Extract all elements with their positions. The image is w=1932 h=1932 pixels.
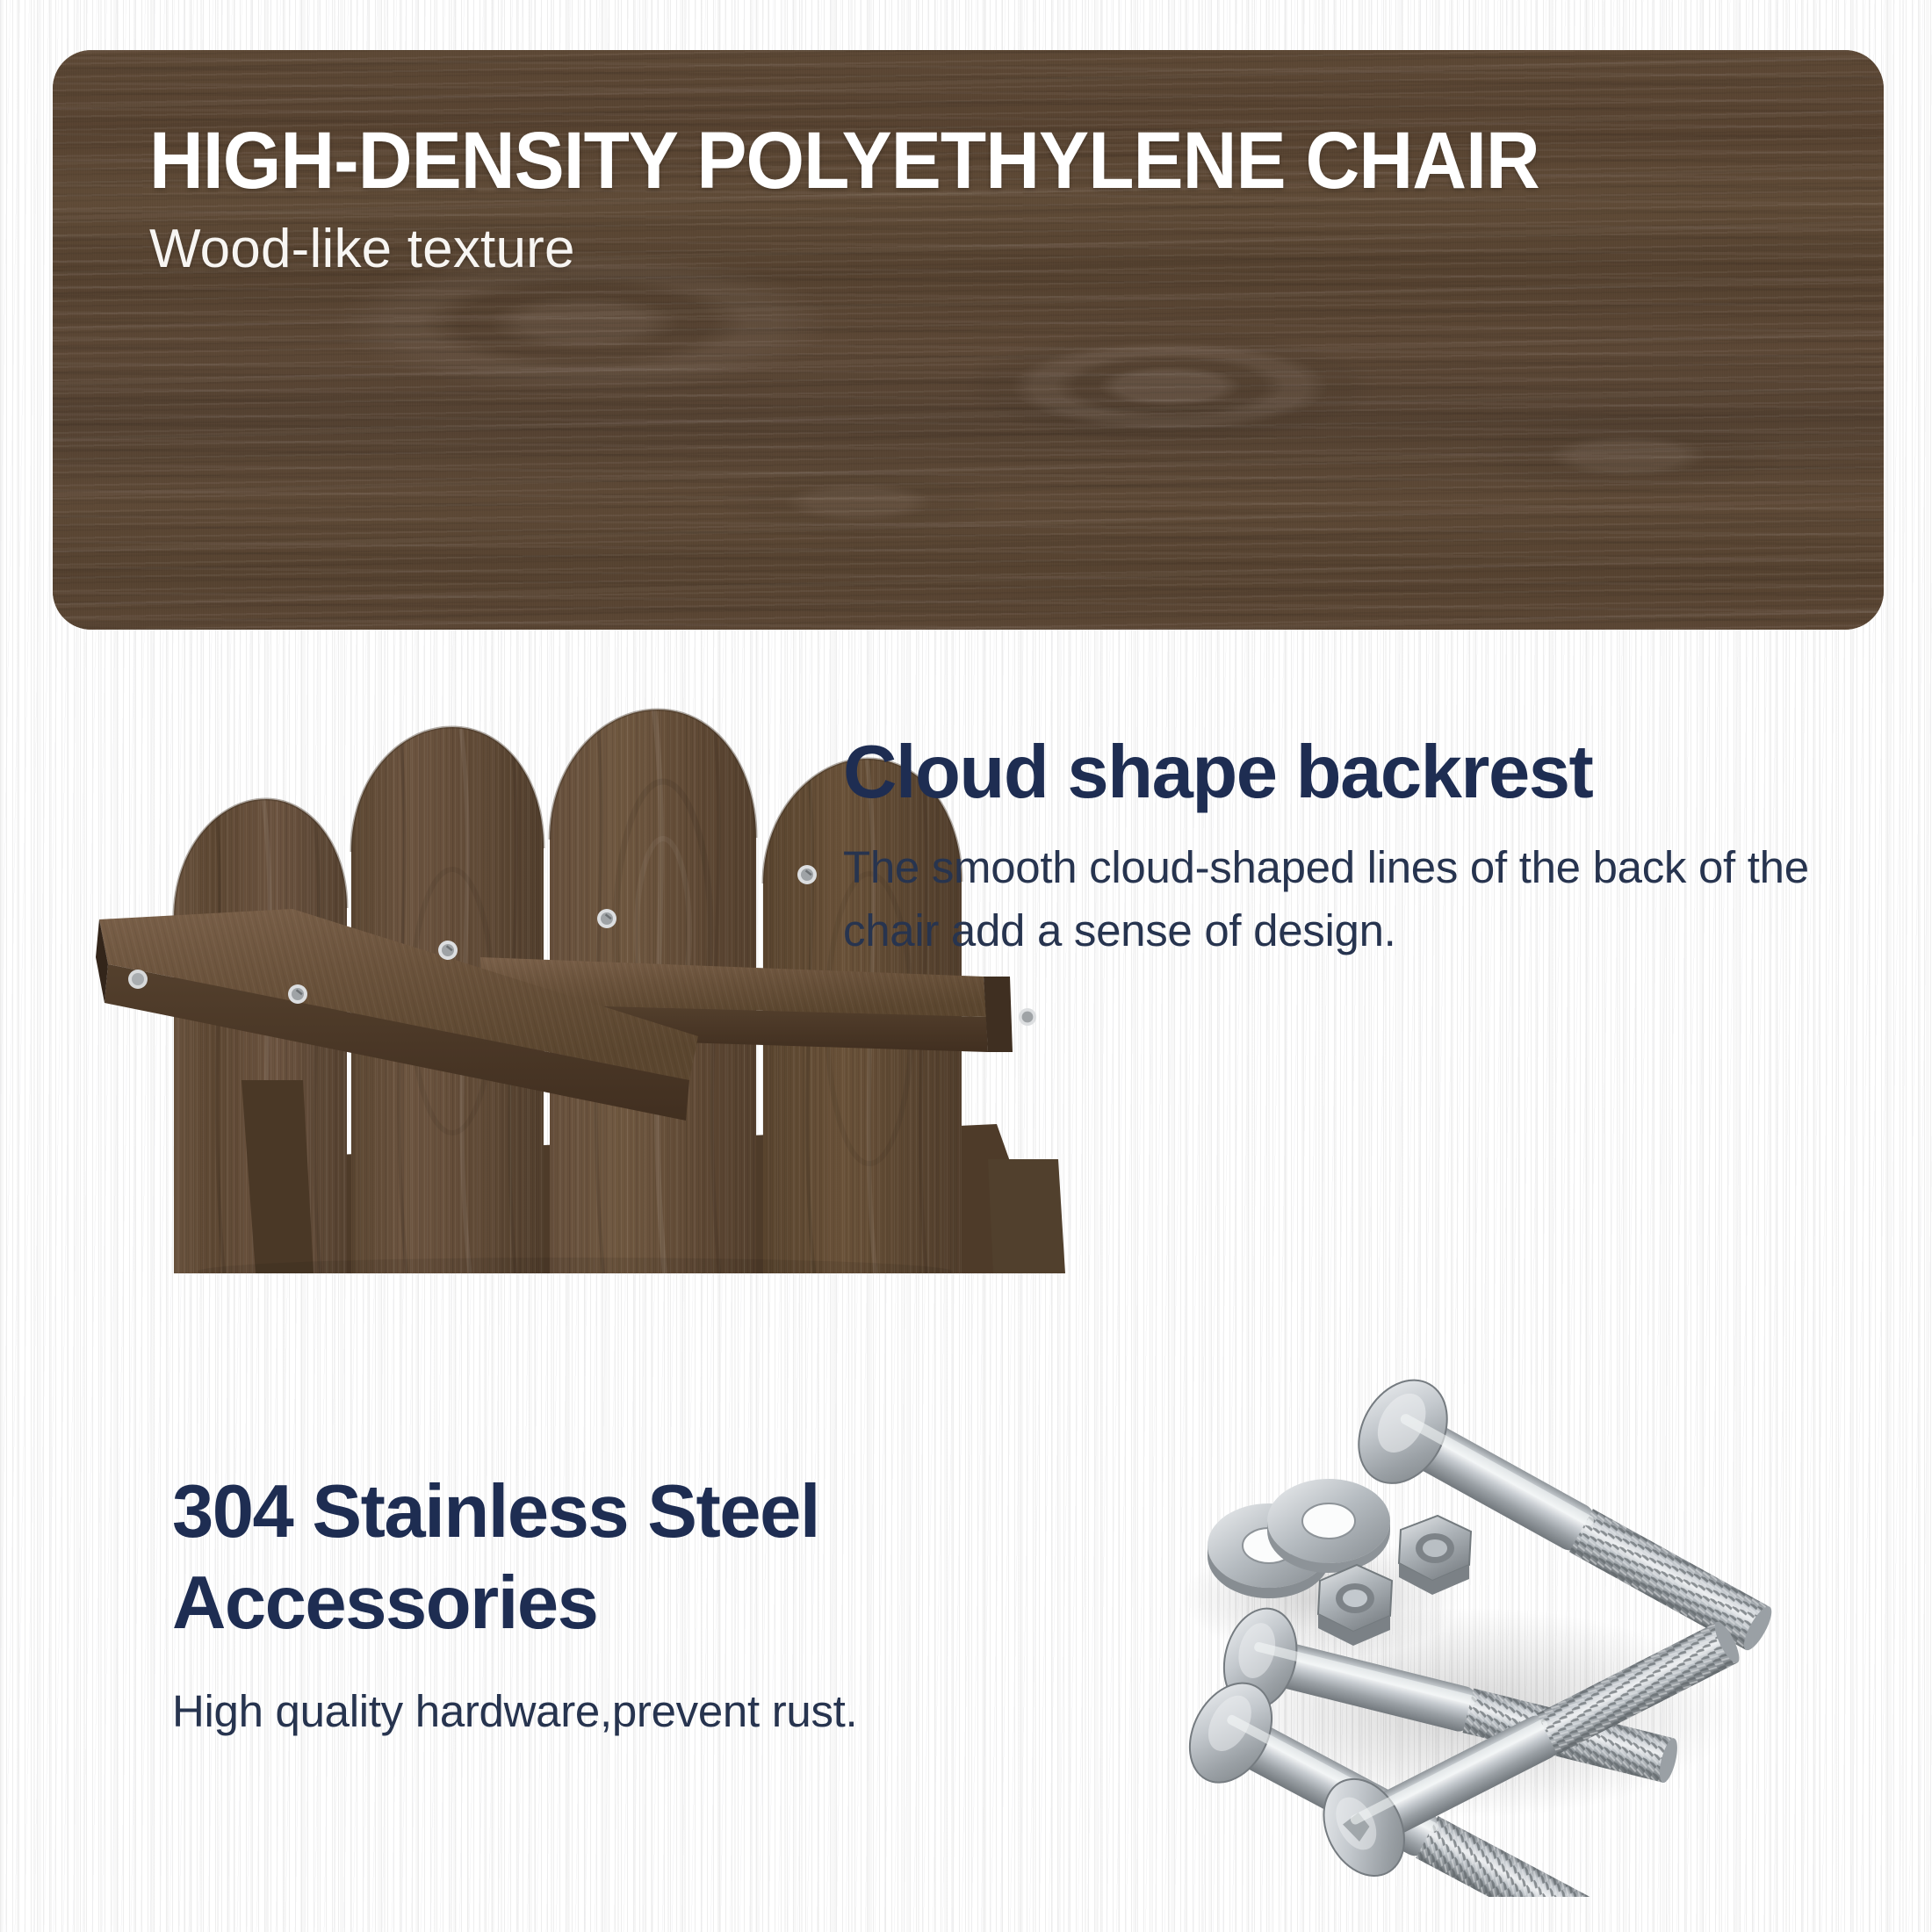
backrest-body-text: The smooth cloud-shaped lines of the bac…: [843, 836, 1888, 962]
screw: [438, 941, 458, 960]
stainless-hardware-photo: [1102, 1335, 1813, 1897]
washer: [1267, 1479, 1390, 1573]
backrest-heading: Cloud shape backrest: [843, 732, 1888, 813]
steel-copy-block: 304 Stainless Steel Accessories High qua…: [172, 1467, 1068, 1739]
steel-heading-line-2: Accessories: [172, 1558, 1068, 1649]
section-cloud-shape-backrest: Cloud shape backrest The smooth cloud-sh…: [0, 667, 1932, 1282]
screw: [597, 909, 616, 928]
chair-rear-leg: [988, 1159, 1065, 1273]
section-stainless-steel-accessories: 304 Stainless Steel Accessories High qua…: [0, 1317, 1932, 1932]
header-banner-card: HIGH-DENSITY POLYETHYLENE CHAIR Wood-lik…: [53, 50, 1884, 630]
screw: [797, 865, 817, 884]
steel-heading: 304 Stainless Steel Accessories: [172, 1467, 1068, 1649]
screw: [288, 984, 307, 1004]
header-text-block: HIGH-DENSITY POLYETHYLENE CHAIR Wood-lik…: [149, 119, 1644, 280]
page-title: HIGH-DENSITY POLYETHYLENE CHAIR: [149, 119, 1539, 203]
hardware-illustration: [1102, 1335, 1813, 1897]
nut: [1318, 1565, 1392, 1646]
steel-subtitle: High quality hardware,prevent rust.: [172, 1684, 1068, 1739]
infographic-page: HIGH-DENSITY POLYETHYLENE CHAIR Wood-lik…: [0, 0, 1932, 1932]
page-subtitle: Wood-like texture: [149, 219, 1644, 280]
steel-heading-line-1: 304 Stainless Steel: [172, 1467, 1068, 1558]
screw: [1019, 1008, 1036, 1026]
backrest-copy-block: Cloud shape backrest The smooth cloud-sh…: [843, 732, 1888, 962]
